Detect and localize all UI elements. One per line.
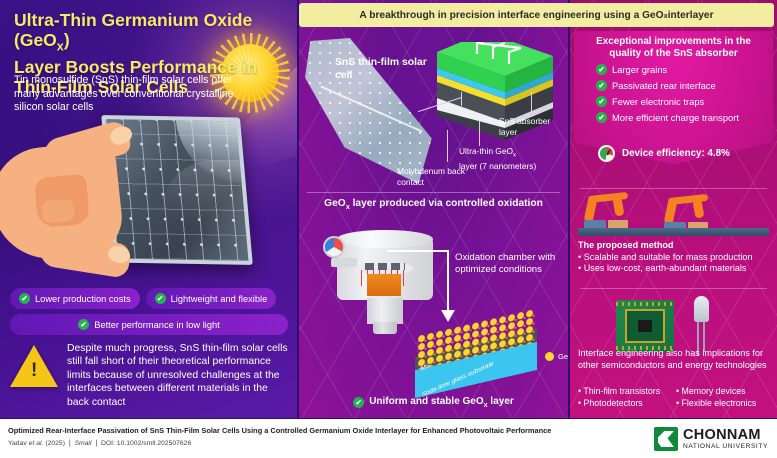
application-item: • Flexible electronics bbox=[676, 398, 774, 408]
benefit-pill-label: Lightweight and flexible bbox=[171, 294, 268, 304]
callout-sns-label: SnS absorber layer bbox=[499, 116, 550, 137]
chamber-neck bbox=[367, 298, 403, 324]
leader-line-device-stub bbox=[461, 92, 462, 106]
chamber-arrow-down-icon bbox=[447, 250, 449, 310]
logo-subtitle: NATIONAL UNIVERSITY bbox=[683, 443, 768, 450]
check-icon: ✔ bbox=[596, 64, 607, 75]
check-icon: ✔ bbox=[155, 293, 166, 304]
gauge-icon bbox=[598, 145, 615, 162]
callout-mo-label: Molybdenum back contact bbox=[397, 166, 465, 187]
list-item-label: More efficient charge transport bbox=[612, 112, 739, 123]
chamber-lid bbox=[337, 230, 433, 248]
citation-year: (2025) bbox=[45, 440, 65, 447]
benefit-pill-lightweight[interactable]: ✔ Lightweight and flexible bbox=[146, 288, 277, 309]
title-paren: ) bbox=[64, 30, 70, 50]
logo-text: CHONNAM NATIONAL UNIVERSITY bbox=[683, 428, 768, 450]
check-icon: ✔ bbox=[596, 80, 607, 91]
led-bulb bbox=[694, 296, 709, 322]
robot-arm-joint bbox=[664, 199, 678, 224]
check-icon: ✔ bbox=[596, 96, 607, 107]
benefit-pill-list: ✔ Lower production costs ✔ Lightweight a… bbox=[10, 288, 288, 340]
robot-arm-gripper bbox=[613, 197, 625, 216]
infographic-poster: Ultra-Thin Germanium Oxide (GeOx) Layer … bbox=[0, 0, 777, 458]
callout-geox-thickness: layer (7 nanometers) bbox=[459, 161, 536, 171]
hand-graphic bbox=[0, 118, 142, 278]
proposed-method-heading: The proposed method bbox=[578, 240, 673, 250]
callout-sns-absorber: SnS absorber layer bbox=[499, 116, 565, 137]
uniform-text-end: layer bbox=[488, 396, 514, 407]
benefit-pill-low-light[interactable]: ✔ Better performance in low light bbox=[10, 314, 288, 335]
benefit-pill-row-1: ✔ Lower production costs ✔ Lightweight a… bbox=[10, 288, 288, 309]
oxidation-section-title: GeOx layer produced via controlled oxida… bbox=[299, 198, 568, 211]
conveyor-belt bbox=[578, 228, 769, 236]
leader-line-mo bbox=[447, 130, 448, 162]
list-item-label: Fewer electronic traps bbox=[612, 96, 704, 107]
uniform-label: Uniform and stable GeOx layer bbox=[369, 396, 514, 409]
pressure-gauge-icon bbox=[323, 236, 345, 258]
oxidation-chamber-caption: Oxidation chamber with optimized conditi… bbox=[455, 252, 559, 277]
list-item: ✔ Passivated rear interface bbox=[596, 80, 771, 91]
hand-knuckle-highlight bbox=[41, 199, 75, 224]
check-icon: ✔ bbox=[78, 319, 89, 330]
check-icon: ✔ bbox=[19, 293, 30, 304]
benefit-pill-lower-cost[interactable]: ✔ Lower production costs bbox=[10, 288, 140, 309]
citation-separator: ❘ bbox=[67, 440, 73, 447]
chamber-arrow-horizontal bbox=[387, 250, 449, 252]
warning-triangle-icon: ! bbox=[10, 345, 58, 389]
callout-geox: Ultra-thin GeOx layer (7 nanometers) bbox=[459, 146, 559, 172]
proposed-method-block: The proposed method • Scalable and suita… bbox=[578, 240, 774, 275]
improvements-list: ✔ Larger grains ✔ Passivated rear interf… bbox=[596, 64, 771, 128]
benefit-pill-label: Lower production costs bbox=[35, 294, 131, 304]
manufacturing-robots-illustration bbox=[578, 192, 769, 236]
citation-authors: Yadav bbox=[8, 440, 27, 447]
chamber-samples bbox=[365, 263, 405, 270]
device-efficiency-label: Device efficiency: 4.8% bbox=[622, 148, 730, 159]
citation-doi[interactable]: DOI: 10.1002/smll.202507626 bbox=[101, 440, 191, 447]
challenge-warning-box: ! Despite much progress, SnS thin-film s… bbox=[10, 341, 290, 409]
application-areas-list: • Thin-film transistors • Photodetectors… bbox=[578, 386, 774, 410]
right-panel: Exceptional improvements in the quality … bbox=[570, 0, 777, 418]
list-item: ✔ Fewer electronic traps bbox=[596, 96, 771, 107]
robot-arm-joint bbox=[584, 197, 598, 222]
title-line-1: Ultra-Thin Germanium Oxide (GeO bbox=[14, 10, 252, 50]
list-item: ✔ More efficient charge transport bbox=[596, 112, 771, 123]
university-logo: CHONNAM NATIONAL UNIVERSITY bbox=[654, 427, 768, 451]
left-panel: Ultra-Thin Germanium Oxide (GeOx) Layer … bbox=[0, 0, 297, 418]
application-item: • Thin-film transistors bbox=[578, 386, 676, 396]
proposed-method-bullet-2: • Uses low-cost, earth-abundant material… bbox=[578, 263, 746, 273]
paper-title: Optimized Rear-Interface Passivation of … bbox=[8, 426, 551, 435]
warning-exclamation: ! bbox=[31, 361, 37, 380]
check-icon: ✔ bbox=[596, 112, 607, 123]
center-divider bbox=[307, 192, 560, 193]
proposed-method-bullet-1: • Scalable and suitable for mass product… bbox=[578, 252, 753, 262]
geox-particle-icon bbox=[545, 352, 554, 361]
citation-footer: Optimized Rear-Interface Passivation of … bbox=[0, 419, 777, 458]
leader-line-geox bbox=[479, 120, 480, 146]
banner-text-start: A breakthrough in precision interface en… bbox=[359, 10, 663, 21]
device-efficiency-badge: Device efficiency: 4.8% bbox=[598, 145, 730, 162]
check-icon: ✔ bbox=[353, 397, 364, 408]
implications-text: Interface engineering also has implicati… bbox=[578, 348, 774, 371]
applications-column-left: • Thin-film transistors • Photodetectors bbox=[578, 386, 676, 410]
applications-column-right: • Memory devices • Flexible electronics bbox=[676, 386, 774, 410]
logo-name: CHONNAM bbox=[683, 428, 768, 443]
citation-etal: et al. bbox=[29, 440, 44, 447]
citation-line: Yadav et al. (2025) ❘ Small ❘ DOI: 10.10… bbox=[8, 439, 191, 447]
list-item-label: Passivated rear interface bbox=[612, 80, 716, 91]
hand-holding-solar-panel-illustration bbox=[0, 104, 297, 284]
uniform-text-start: Uniform and stable GeO bbox=[369, 396, 483, 407]
oxidation-title-rest: layer produced via controlled oxidation bbox=[350, 198, 543, 209]
callout-geox-subscript: x bbox=[513, 153, 516, 159]
list-item: ✔ Larger grains bbox=[596, 64, 771, 75]
right-divider-1 bbox=[580, 188, 767, 189]
chamber-heater bbox=[367, 274, 401, 296]
benefit-pill-row-2: ✔ Better performance in low light bbox=[10, 314, 288, 335]
warning-text: Despite much progress, SnS thin-film sol… bbox=[67, 341, 290, 409]
chonnam-logo-icon bbox=[654, 427, 678, 451]
geox-on-substrate-graphic: Mo Soda-lime glass substrate bbox=[415, 320, 543, 394]
right-divider-2 bbox=[580, 288, 767, 289]
led-icon bbox=[692, 296, 710, 356]
leader-line-sns bbox=[531, 92, 532, 116]
chip-pins-bottom bbox=[616, 300, 674, 352]
oxidation-title-geo: GeO bbox=[324, 198, 346, 209]
benefit-pill-label: Better performance in low light bbox=[94, 320, 220, 330]
sns-device-label: SnS thin-film solar cell bbox=[335, 56, 431, 82]
robot-arm-gripper bbox=[693, 199, 705, 218]
microchip-icon bbox=[616, 300, 674, 352]
citation-journal: Small bbox=[74, 440, 91, 447]
chamber-foot bbox=[373, 322, 397, 334]
title-subscript: x bbox=[57, 40, 64, 54]
top-banner: A breakthrough in precision interface en… bbox=[299, 3, 774, 27]
geox-legend-label: GeO bbox=[558, 352, 568, 361]
callout-molybdenum: Molybdenum back contact bbox=[397, 166, 469, 187]
chamber-gauge-arm bbox=[331, 258, 357, 267]
application-item: • Photodetectors bbox=[578, 398, 676, 408]
center-panel: SnS thin-film solar cell bbox=[299, 0, 568, 418]
uniform-layer-statement: ✔ Uniform and stable GeOx layer bbox=[299, 396, 568, 409]
geox-legend: GeOx bbox=[545, 352, 568, 361]
application-item: • Memory devices bbox=[676, 386, 774, 396]
callout-geox-label: Ultra-thin GeO bbox=[459, 146, 513, 156]
citation-separator-2: ❘ bbox=[93, 440, 99, 447]
list-item-label: Larger grains bbox=[612, 64, 667, 75]
improvements-title: Exceptional improvements in the quality … bbox=[580, 36, 767, 61]
banner-text-end: interlayer bbox=[668, 10, 714, 21]
